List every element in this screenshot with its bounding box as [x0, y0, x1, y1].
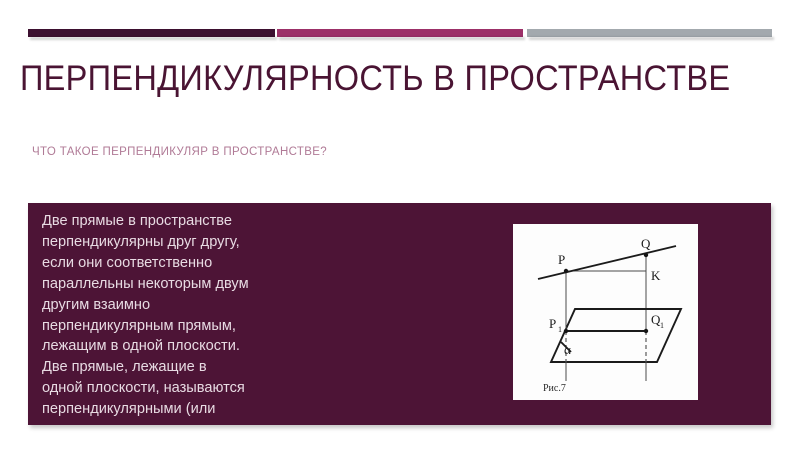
- point-p: [564, 269, 568, 273]
- decor-bar-magenta: [277, 29, 523, 37]
- label-p1: P: [549, 316, 556, 331]
- geometry-figure-svg: P Q K P 1 Q 1 α Рис.7: [513, 224, 698, 400]
- geometry-figure: P Q K P 1 Q 1 α Рис.7: [513, 224, 698, 400]
- point-q: [644, 253, 648, 257]
- definition-text: Две прямые в пространстве перпендикулярн…: [42, 211, 310, 425]
- page-title: ПЕРПЕНДИКУЛЯРНОСТЬ В ПРОСТРАНСТВЕ: [20, 58, 727, 100]
- content-panel: Две прямые в пространстве перпендикулярн…: [28, 203, 771, 425]
- label-alpha: α: [564, 342, 571, 357]
- label-q: Q: [641, 236, 651, 251]
- label-p: P: [558, 252, 565, 267]
- decor-bar-dark: [28, 29, 275, 37]
- point-p1: [564, 329, 568, 333]
- decor-bar-gray: [527, 29, 772, 37]
- label-k: K: [651, 268, 661, 283]
- figure-caption: Рис.7: [543, 383, 566, 394]
- point-q1: [644, 329, 648, 333]
- label-q1-subscript: 1: [660, 321, 664, 330]
- label-p1-subscript: 1: [558, 325, 562, 334]
- slide-subtitle: ЧТО ТАКОЕ ПЕРПЕНДИКУЛЯР В ПРОСТРАНСТВЕ?: [32, 146, 327, 158]
